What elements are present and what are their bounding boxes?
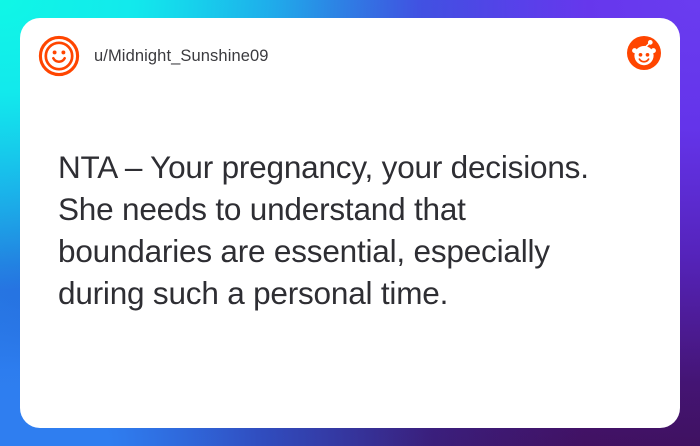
card-header: u/Midnight_Sunshine09: [20, 18, 680, 94]
card-body: NTA – Your pregnancy, your decisions. Sh…: [58, 146, 650, 314]
post-text: NTA – Your pregnancy, your decisions. Sh…: [58, 146, 650, 314]
smiley-face-avatar-icon[interactable]: [38, 35, 80, 77]
user-identity-block[interactable]: u/Midnight_Sunshine09: [38, 35, 269, 77]
reddit-snoo-icon[interactable]: [626, 35, 662, 71]
post-card: u/Midnight_Sunshine09 NTA – Your: [20, 18, 680, 428]
gradient-backdrop: u/Midnight_Sunshine09 NTA – Your: [0, 0, 700, 446]
username-label: u/Midnight_Sunshine09: [94, 48, 269, 65]
